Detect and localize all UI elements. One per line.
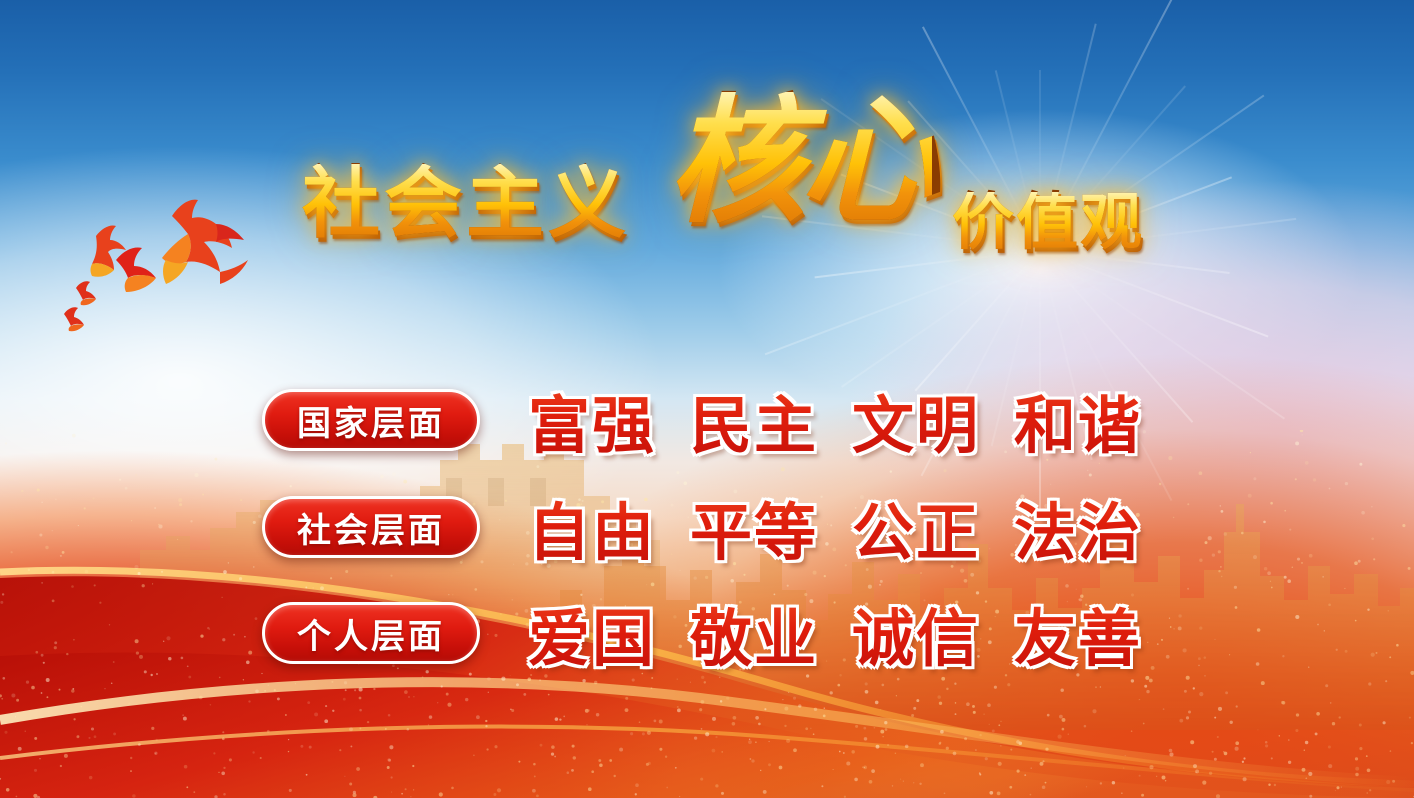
value-item: 爱国 爱国 [528, 588, 656, 678]
value-item: 和谐 和谐 [1014, 375, 1142, 465]
value-text: 平等 [690, 482, 818, 572]
badge-personal-label: 个人层面 [297, 609, 445, 658]
value-row-personal: 个人层面 爱国 爱国 敬业 敬业 诚信 诚信 友善 友善 [262, 588, 1142, 678]
value-row-social: 社会层面 自由 自由 平等 平等 公正 公正 法治 法治 [262, 482, 1142, 572]
badge-national-level[interactable]: 国家层面 [262, 389, 480, 451]
value-item: 文明 文明 [852, 375, 980, 465]
value-text: 法治 [1014, 482, 1142, 572]
value-item: 民主 民主 [690, 375, 818, 465]
value-text: 爱国 [528, 588, 656, 678]
values-social: 自由 自由 平等 平等 公正 公正 法治 法治 [528, 482, 1142, 572]
badge-social-label: 社会层面 [297, 503, 445, 552]
value-text: 民主 [690, 375, 818, 465]
title-part3: 价值观 [952, 192, 1144, 254]
value-text: 和谐 [1014, 375, 1142, 465]
value-row-national: 国家层面 富强 富强 民主 民主 文明 文明 和谐 和谐 [262, 375, 1142, 465]
value-item: 平等 平等 [690, 482, 818, 572]
badge-national-label: 国家层面 [297, 396, 445, 445]
value-text: 敬业 [690, 588, 818, 678]
values-national: 富强 富强 民主 民主 文明 文明 和谐 和谐 [528, 375, 1142, 465]
value-item: 法治 法治 [1014, 482, 1142, 572]
badge-personal-level[interactable]: 个人层面 [262, 602, 480, 664]
value-text: 公正 [852, 482, 980, 572]
value-text: 自由 [528, 482, 656, 572]
value-item: 自由 自由 [528, 482, 656, 572]
values-personal: 爱国 爱国 敬业 敬业 诚信 诚信 友善 友善 [528, 588, 1142, 678]
poster-canvas: 社会主义 社会主义 核心 核心 价值观 价值观 国家层面 富强 富强 民主 民主… [0, 0, 1414, 798]
badge-social-level[interactable]: 社会层面 [262, 496, 480, 558]
value-text: 诚信 [852, 588, 980, 678]
value-text: 富强 [528, 375, 656, 465]
title-part2: 核心 [668, 92, 932, 230]
title-part1: 社会主义 [302, 164, 630, 242]
value-text: 友善 [1014, 588, 1142, 678]
value-item: 友善 友善 [1014, 588, 1142, 678]
value-item: 诚信 诚信 [852, 588, 980, 678]
value-item: 公正 公正 [852, 482, 980, 572]
value-item: 敬业 敬业 [690, 588, 818, 678]
value-text: 文明 [852, 375, 980, 465]
value-item: 富强 富强 [528, 375, 656, 465]
poster-title: 社会主义 社会主义 核心 核心 价值观 价值观 [280, 86, 1160, 286]
dove-icon [40, 180, 290, 340]
